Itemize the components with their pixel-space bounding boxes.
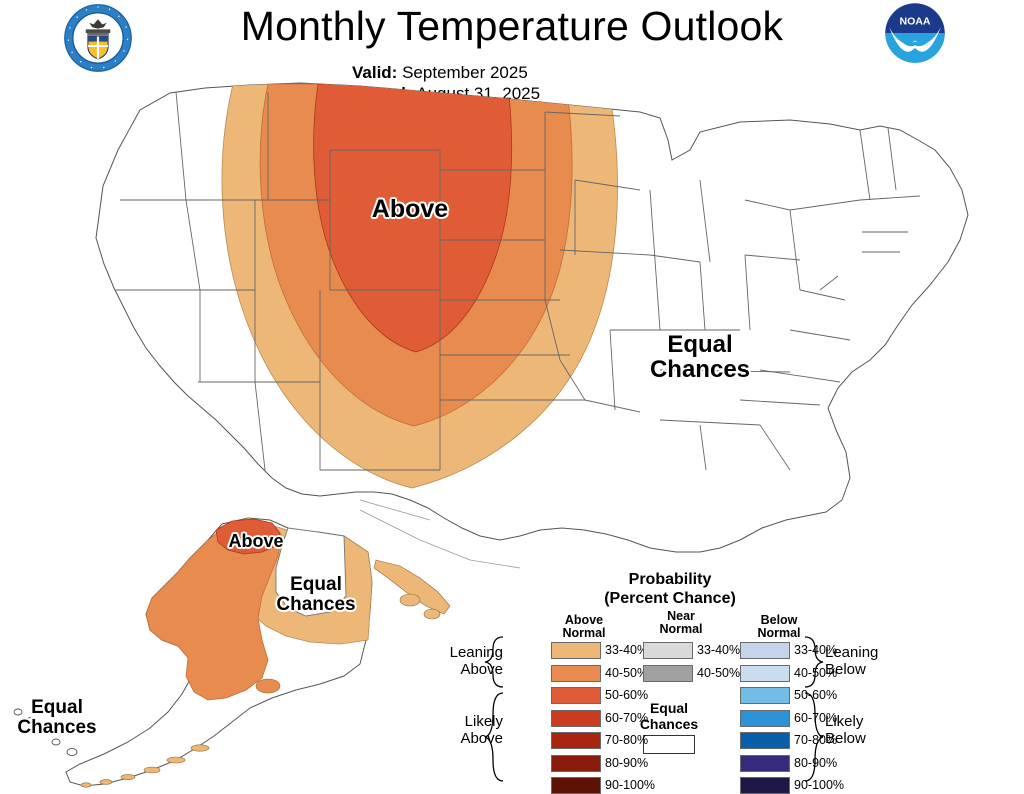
legend-swatch-above-normal-60-70 xyxy=(551,710,601,727)
legend-swatch-above-normal-70-80 xyxy=(551,732,601,749)
legend-bracket-leaning-below: Leaning Below xyxy=(825,644,917,678)
legend-range-above-normal-90-100: 90-100% xyxy=(605,777,655,794)
legend-range-above-normal-70-80: 70-80% xyxy=(605,732,648,749)
legend-range-below-normal-50-60: 50-60% xyxy=(794,687,837,704)
legend-range-above-normal-60-70: 60-70% xyxy=(605,710,648,727)
legend-range-near-normal-33-40: 33-40% xyxy=(697,642,740,659)
legend-equal-chances-swatch xyxy=(643,735,695,754)
legend-swatch-below-normal-60-70 xyxy=(740,710,790,727)
leaning-below-line2: Below xyxy=(825,661,917,678)
legend-range-below-normal-33-40: 33-40% xyxy=(794,642,837,659)
legend-title-line2: (Percent Chance) xyxy=(455,589,885,608)
legend-range-above-normal-50-60: 50-60% xyxy=(605,687,648,704)
legend-swatch-below-normal-40-50 xyxy=(740,665,790,682)
alaska-inset xyxy=(66,518,450,787)
legend-range-above-normal-40-50: 40-50% xyxy=(605,665,648,682)
leaning-below-line1: Leaning xyxy=(825,644,917,661)
legend-swatch-above-normal-33-40 xyxy=(551,642,601,659)
legend-range-near-normal-40-50: 40-50% xyxy=(697,665,740,682)
legend-range-below-normal-80-90: 80-90% xyxy=(794,755,837,772)
map-label-ec-ak-line1: Equal xyxy=(256,575,376,595)
legend-range-below-normal-60-70: 60-70% xyxy=(794,710,837,727)
probability-legend: Probability (Percent Chance) Above Norma… xyxy=(455,570,885,788)
legend-swatch-below-normal-50-60 xyxy=(740,687,790,704)
brace-likely-above xyxy=(483,692,505,782)
legend-range-below-normal-90-100: 90-100% xyxy=(794,777,844,794)
map-label-ec-hi-line2: Chances xyxy=(2,718,112,738)
legend-swatch-above-normal-80-90 xyxy=(551,755,601,772)
legend-range-below-normal-70-80: 70-80% xyxy=(794,732,837,749)
legend-swatch-below-normal-90-100 xyxy=(740,777,790,794)
map-label-above-alaska: Above xyxy=(196,532,316,551)
legend-bracket-likely-below: Likely Below xyxy=(825,713,917,747)
legend-swatch-above-normal-40-50 xyxy=(551,665,601,682)
map-label-ec-hi-line1: Equal xyxy=(2,698,112,718)
legend-range-above-normal-80-90: 80-90% xyxy=(605,755,648,772)
map-label-equal-chances-conus: Equal Chances xyxy=(620,332,780,382)
legend-swatch-below-normal-70-80 xyxy=(740,732,790,749)
map-label-equal-chances-alaska: Equal Chances xyxy=(256,575,376,615)
legend-title-line1: Probability xyxy=(455,570,885,589)
legend-swatch-near-normal-40-50 xyxy=(643,665,693,682)
legend-swatch-near-normal-33-40 xyxy=(643,642,693,659)
likely-below-line1: Likely xyxy=(825,713,917,730)
brace-leaning-above xyxy=(483,636,505,688)
map-label-ec-conus-line2: Chances xyxy=(620,357,780,382)
legend-swatch-below-normal-33-40 xyxy=(740,642,790,659)
legend-range-above-normal-33-40: 33-40% xyxy=(605,642,648,659)
legend-col-above-line2: Normal xyxy=(538,627,630,640)
map-label-equal-chances-hawaii: Equal Chances xyxy=(2,698,112,738)
legend-swatch-above-normal-50-60 xyxy=(551,687,601,704)
map-label-ec-conus-line1: Equal xyxy=(620,332,780,357)
legend-swatch-above-normal-90-100 xyxy=(551,777,601,794)
likely-below-line2: Below xyxy=(825,730,917,747)
legend-col-header-near-normal: Near Normal xyxy=(635,610,727,636)
legend-col-header-above-normal: Above Normal xyxy=(538,614,630,640)
legend-col-near-line2: Normal xyxy=(635,623,727,636)
legend-range-below-normal-40-50: 40-50% xyxy=(794,665,837,682)
legend-swatch-below-normal-80-90 xyxy=(740,755,790,772)
map-label-ec-ak-line2: Chances xyxy=(256,595,376,615)
map-label-above-conus: Above xyxy=(330,196,490,222)
